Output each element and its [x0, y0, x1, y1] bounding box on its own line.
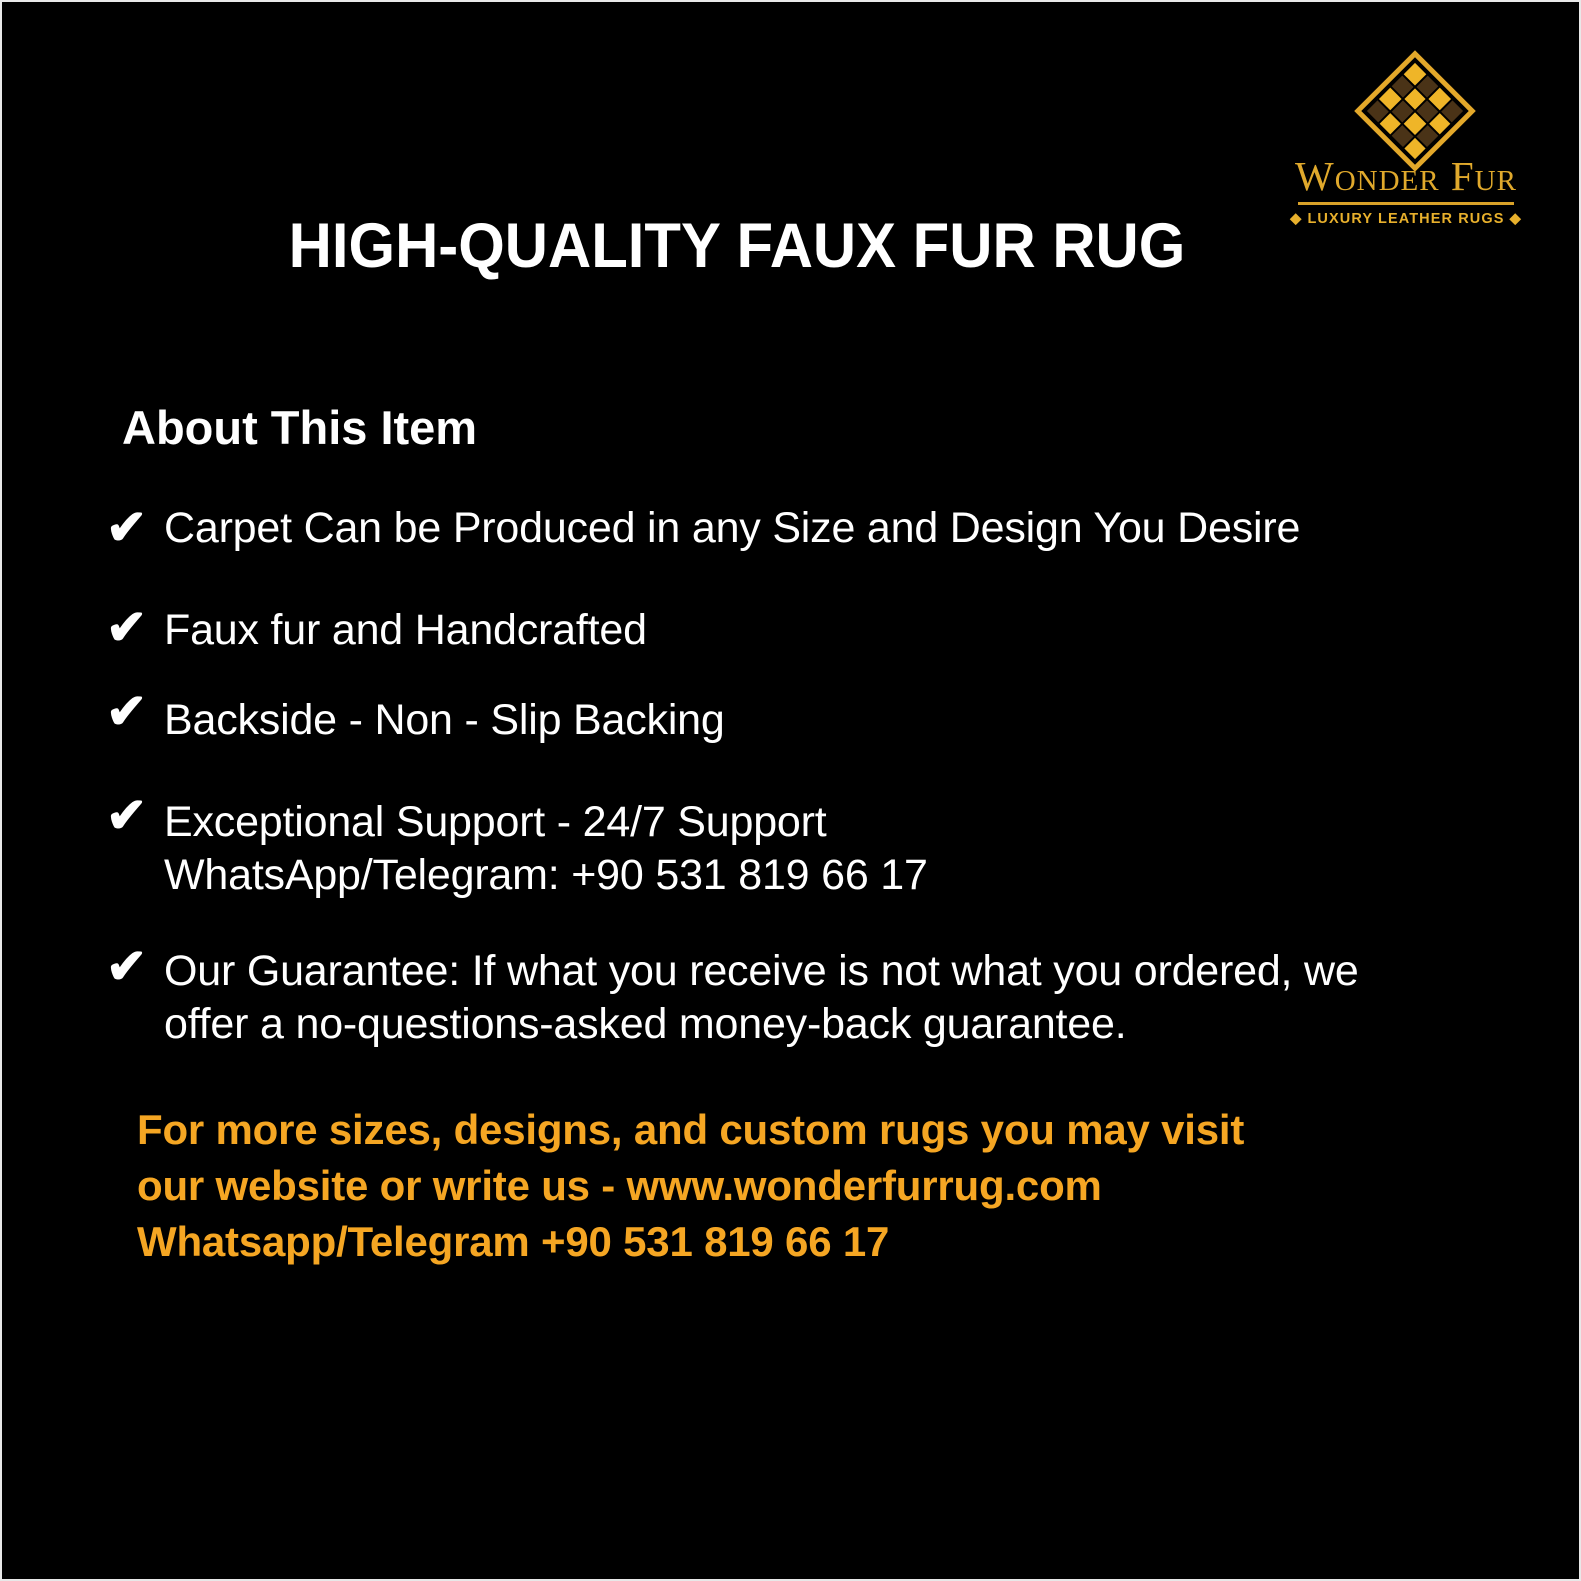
feature-list: ✔ Carpet Can be Produced in any Size and…	[102, 502, 1522, 1050]
list-item-label: Exceptional Support - 24/7 Support Whats…	[164, 796, 1522, 901]
section-heading-about-this-item: About This Item	[122, 400, 477, 455]
brand-logo: Wonder Fur ◆ LUXURY LEATHER RUGS ◆	[1281, 54, 1531, 227]
list-item: ✔ Backside - Non - Slip Backing	[102, 694, 1522, 746]
promo-contact-text: For more sizes, designs, and custom rugs…	[137, 1102, 1467, 1270]
list-item: ✔ Exceptional Support - 24/7 Support Wha…	[102, 796, 1522, 901]
list-item-label: Carpet Can be Produced in any Size and D…	[164, 502, 1522, 554]
product-info-card: Wonder Fur ◆ LUXURY LEATHER RUGS ◆ HIGH-…	[0, 0, 1581, 1581]
check-icon: ✔	[102, 604, 164, 653]
check-icon: ✔	[102, 792, 164, 841]
logo-checkerboard-grid	[1367, 63, 1463, 159]
check-icon: ✔	[102, 504, 164, 553]
list-item-label: Backside - Non - Slip Backing	[164, 694, 1522, 746]
list-item: ✔ Carpet Can be Produced in any Size and…	[102, 502, 1522, 554]
list-item: ✔ Our Guarantee: If what you receive is …	[102, 945, 1522, 1050]
check-icon: ✔	[102, 688, 164, 737]
check-icon: ✔	[102, 943, 164, 992]
logo-divider	[1298, 202, 1514, 205]
list-item: ✔ Faux fur and Handcrafted	[102, 604, 1522, 656]
page-title: HIGH-QUALITY FAUX FUR RUG	[39, 210, 1436, 282]
diamond-checkerboard-icon	[1358, 54, 1454, 150]
list-item-label: Faux fur and Handcrafted	[164, 604, 1522, 656]
list-item-label: Our Guarantee: If what you receive is no…	[164, 945, 1522, 1050]
